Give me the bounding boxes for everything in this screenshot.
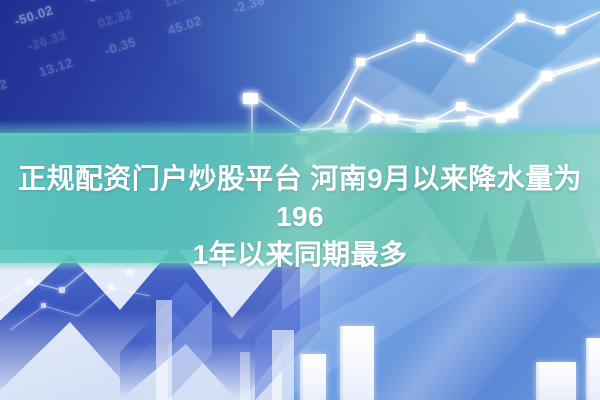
headline-line-2: 1年以来同期最多 bbox=[10, 236, 590, 274]
headline-text: 正规配资门户炒股平台 河南9月以来降水量为196 1年以来同期最多 bbox=[0, 160, 600, 274]
bar-chart-bar bbox=[586, 338, 600, 400]
bar-chart-bar bbox=[536, 362, 576, 400]
headline-line-1: 正规配资门户炒股平台 河南9月以来降水量为196 bbox=[10, 160, 590, 236]
bar-chart-bar bbox=[300, 354, 326, 400]
news-banner-image: +5.02-11.25-02.36+45.0221.05 2.26-02.35-… bbox=[0, 0, 600, 400]
bar-chart-bar bbox=[340, 326, 374, 400]
